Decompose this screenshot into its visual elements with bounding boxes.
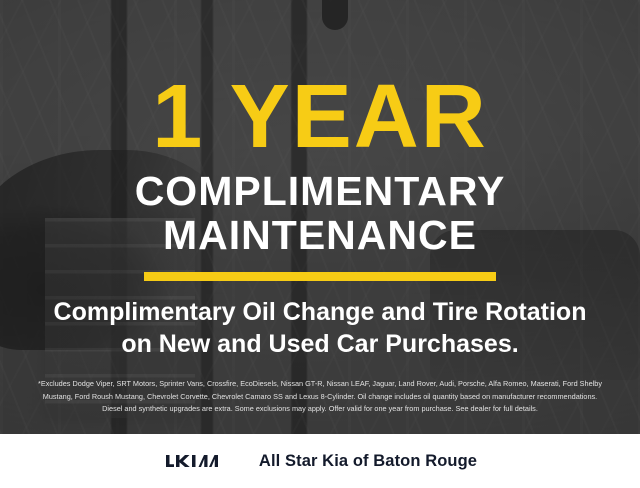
dealer-name: All Star Kia of Baton Rouge [259,452,477,471]
subheadline: Complimentary Oil Change and Tire Rotati… [20,297,620,360]
hero-content: 1 YEAR COMPLIMENTARY MAINTENANCE Complim… [0,0,640,434]
disclaimer-line-1: *Excludes Dodge Viper, SRT Motors, Sprin… [16,378,624,391]
headline-year: 1 YEAR [152,76,487,159]
subheadline-line-1: Complimentary Oil Change and Tire Rotati… [20,297,620,329]
hero-section: 1 YEAR COMPLIMENTARY MAINTENANCE Complim… [0,0,640,434]
headline-complimentary: COMPLIMENTARY [135,171,506,213]
disclaimer-text: *Excludes Dodge Viper, SRT Motors, Sprin… [16,378,624,416]
kia-logo-icon [163,451,237,471]
disclaimer-line-2: Mustang, Ford Roush Mustang, Chevrolet C… [16,391,624,404]
headline-maintenance: MAINTENANCE [163,215,477,257]
disclaimer-line-3: Diesel and synthetic upgrades are extra.… [16,403,624,416]
promo-banner: 1 YEAR COMPLIMENTARY MAINTENANCE Complim… [0,0,640,488]
yellow-divider-rule [144,272,496,281]
footer-bar: All Star Kia of Baton Rouge [0,434,640,488]
subheadline-line-2: on New and Used Car Purchases. [20,329,620,361]
